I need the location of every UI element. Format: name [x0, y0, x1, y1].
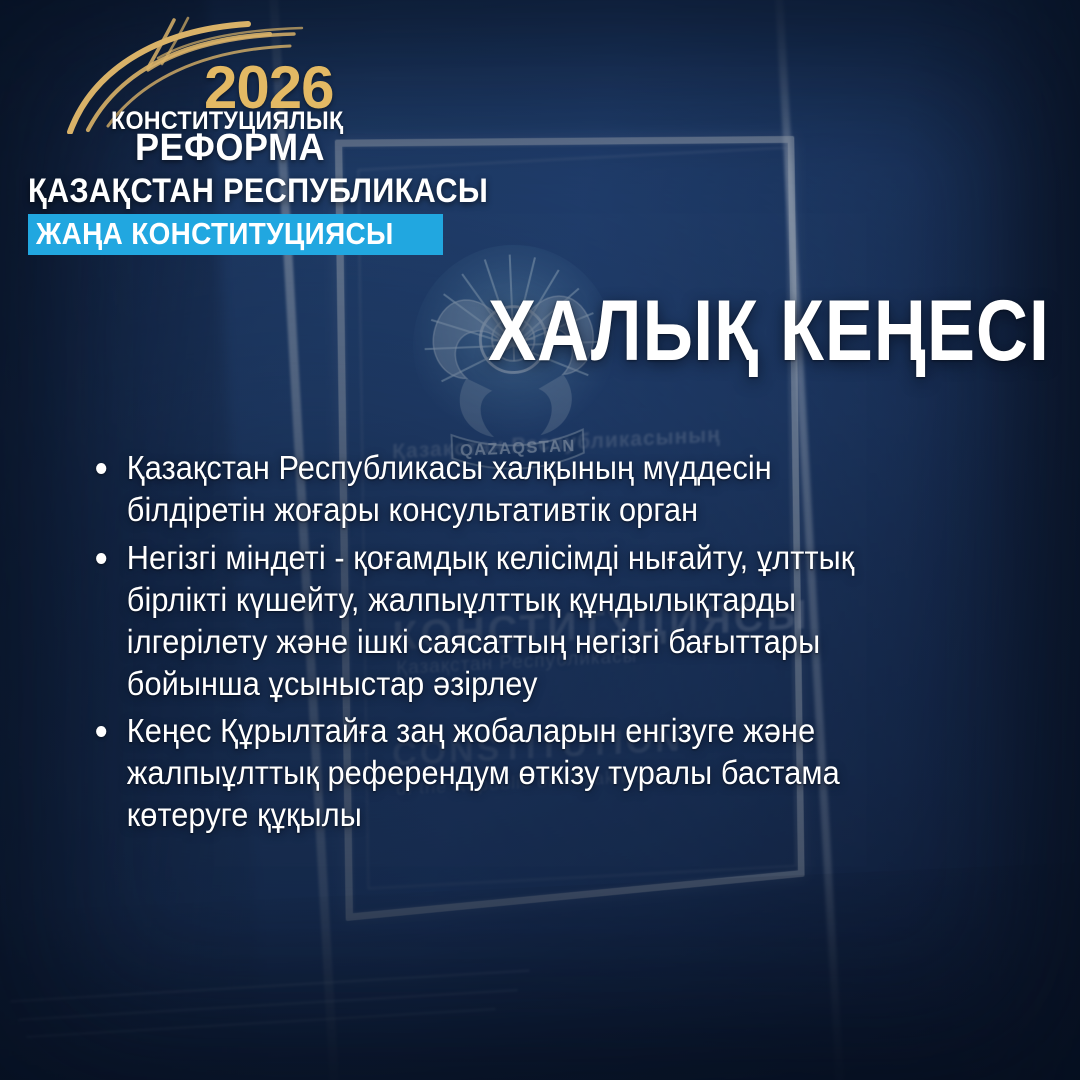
- logo-line-reforma: РЕФОРМА: [97, 129, 363, 167]
- header-line-new-constitution: ЖАҢА КОНСТИТУЦИЯСЫ: [36, 218, 394, 249]
- list-item: Негізгі міндеті - қоғамдық келісімді нығ…: [84, 537, 856, 705]
- poster-content: 2026 КОНСТИТУЦИЯЛЫҚ РЕФОРМА ҚАЗАҚСТАН РЕ…: [0, 0, 1080, 1080]
- list-item: Кеңес Құрылтайға заң жобаларын енгізуге …: [84, 710, 856, 836]
- header-line-republic: ҚАЗАҚСТАН РЕСПУБЛИКАСЫ: [28, 172, 488, 211]
- list-item: Қазақстан Республикасы халқының мүддесін…: [84, 447, 856, 531]
- bullet-list: Қазақстан Республикасы халқының мүддесін…: [84, 447, 914, 842]
- poster-canvas: QAZAQSTAN Қазақстан Республикасының КОНС…: [0, 0, 1080, 1080]
- header-highlight-bar: ЖАҢА КОНСТИТУЦИЯСЫ: [28, 214, 443, 255]
- constitutional-reform-2026-logo: 2026 КОНСТИТУЦИЯЛЫҚ РЕФОРМА: [72, 14, 372, 154]
- page-title: ХАЛЫҚ КЕҢЕСІ: [488, 288, 1050, 374]
